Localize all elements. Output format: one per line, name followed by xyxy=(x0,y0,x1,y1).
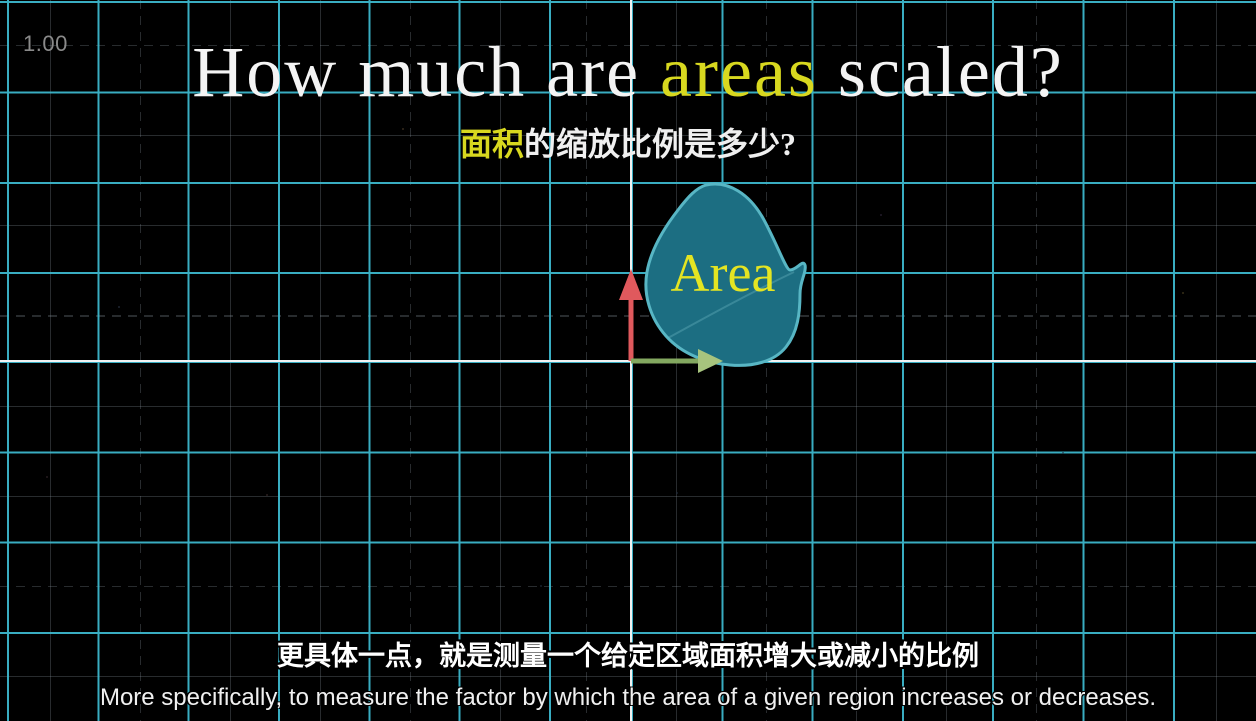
artifact-speckle xyxy=(266,494,268,496)
area-blob-path xyxy=(646,184,805,365)
artifact-speckle xyxy=(1182,292,1184,294)
artifact-speckle xyxy=(880,214,882,216)
page-title: How much are areas scaled? xyxy=(0,36,1256,108)
artifact-speckle xyxy=(540,585,542,587)
title-highlight-areas: areas xyxy=(660,32,818,112)
artifact-speckle xyxy=(46,476,48,478)
video-frame: 1.00 How much are areas scaled? 面积的缩放比例是… xyxy=(0,0,1256,721)
caption-english: More specifically, to measure the factor… xyxy=(0,684,1256,712)
subtitle-rest: 的缩放比例是多少? xyxy=(524,126,796,162)
artifact-speckle xyxy=(118,306,120,308)
title-translation: 面积的缩放比例是多少? xyxy=(0,127,1256,162)
area-blob xyxy=(628,176,818,376)
subtitle-highlight-mianji: 面积 xyxy=(460,126,524,162)
artifact-speckle xyxy=(676,492,678,494)
artifact-speckle xyxy=(1062,452,1064,454)
caption-chinese: 更具体一点，就是测量一个给定区域面积增大或减小的比例 xyxy=(0,641,1256,672)
title-part-2: scaled? xyxy=(818,32,1064,112)
title-part-1: How much are xyxy=(192,32,660,112)
area-blob-svg xyxy=(628,176,818,376)
